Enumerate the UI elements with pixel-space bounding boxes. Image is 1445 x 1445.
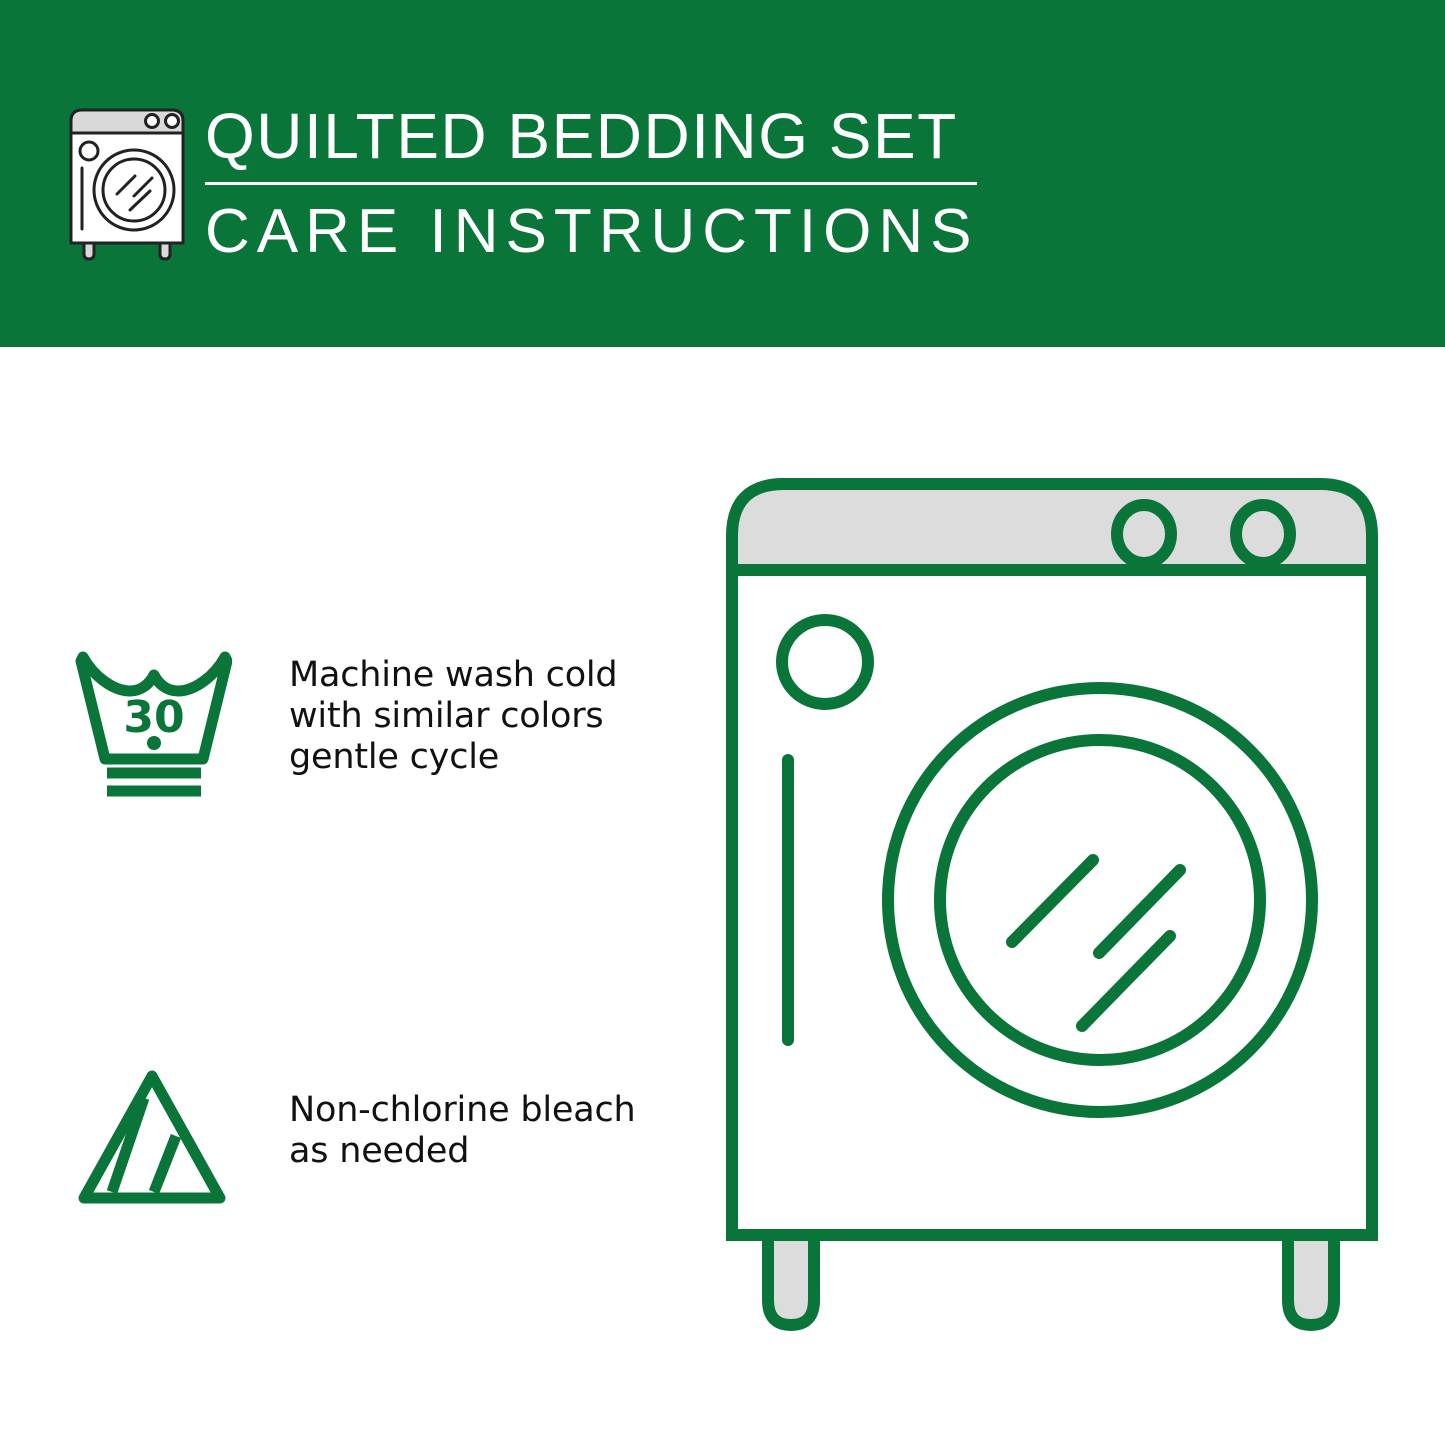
header-band: QUILTED BEDDING SET CARE INSTRUCTIONS	[0, 0, 1445, 347]
care-line: Machine wash cold	[289, 655, 689, 696]
care-text-bleach: Non-chlorine bleach as needed	[289, 1090, 689, 1172]
page-subtitle: CARE INSTRUCTIONS	[205, 197, 995, 267]
title-divider	[205, 182, 977, 185]
care-line: Non-chlorine bleach	[289, 1090, 689, 1131]
wash-temperature-value: 30	[123, 692, 184, 743]
triangle-non-chlorine-bleach-icon	[72, 1060, 232, 1220]
care-instruction-list: 30 Machine wash cold with similar colors…	[0, 347, 700, 1445]
header-text-block: QUILTED BEDDING SET CARE INSTRUCTIONS	[205, 100, 995, 267]
wash-tub-30-icon: 30	[72, 639, 232, 799]
care-line: with similar colors	[289, 696, 689, 737]
care-text-machine-wash: Machine wash cold with similar colors ge…	[289, 655, 689, 778]
large-washing-machine-illustration	[718, 470, 1418, 1360]
care-line: gentle cycle	[289, 737, 689, 778]
page-title: QUILTED BEDDING SET	[205, 100, 995, 172]
care-instructions-page: QUILTED BEDDING SET CARE INSTRUCTIONS 30	[0, 0, 1445, 1445]
care-line: as needed	[289, 1131, 689, 1172]
washing-machine-icon	[62, 104, 192, 262]
